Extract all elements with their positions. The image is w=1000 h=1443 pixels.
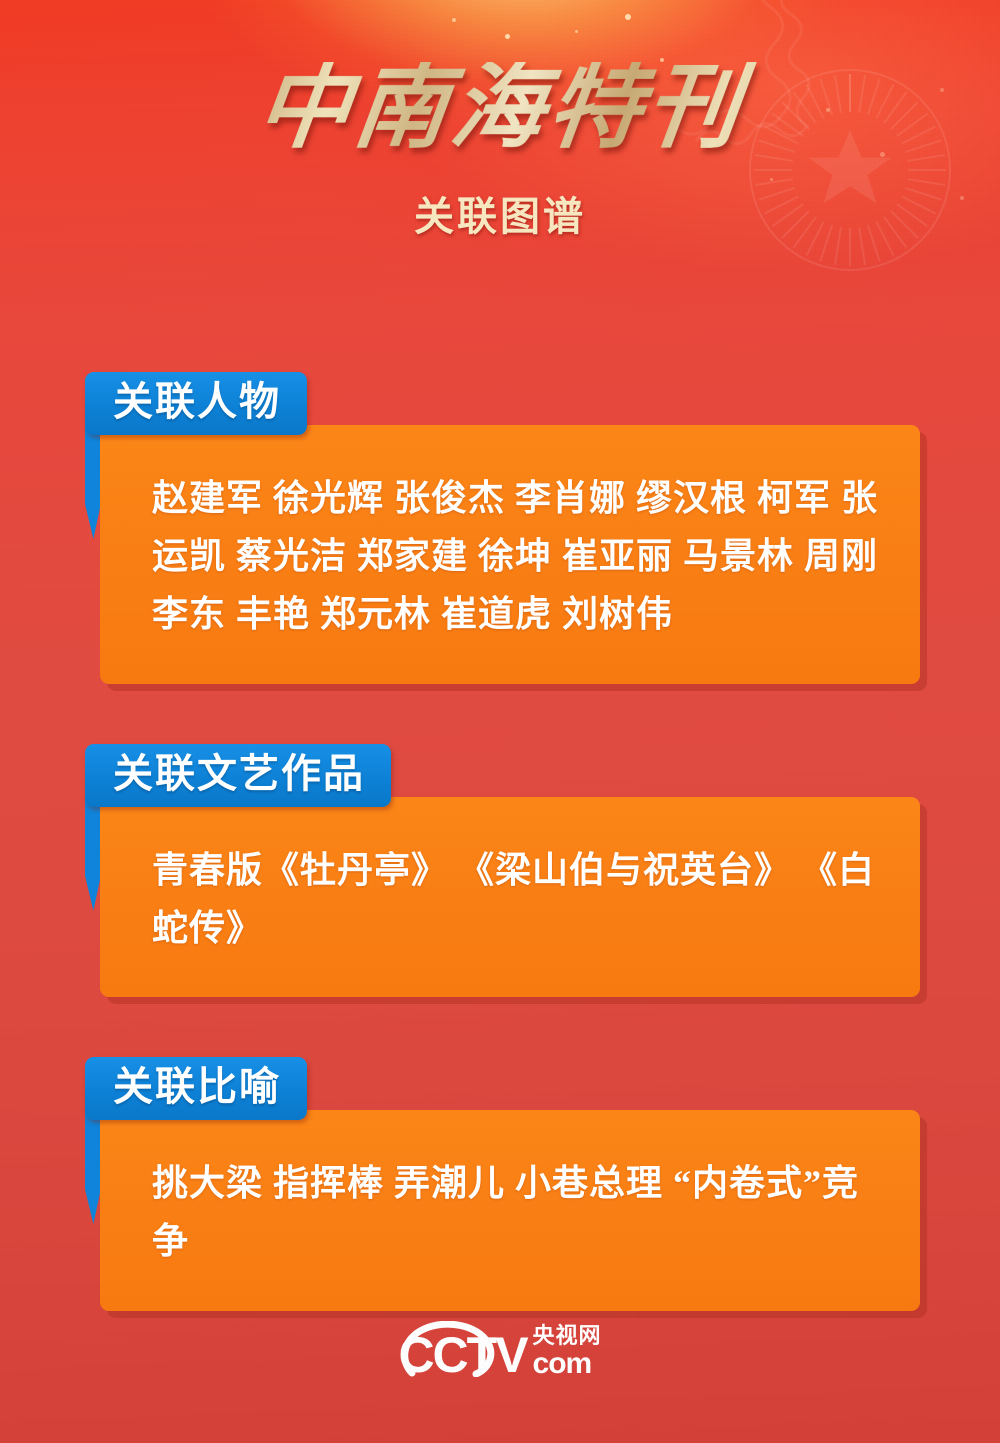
section-card-related-people: 赵建军 徐光辉 张俊杰 李肖娜 缪汉根 柯军 张运凯 蔡光洁 郑家建 徐坤 崔亚… xyxy=(100,425,920,684)
section-tab-label: 关联比喻 xyxy=(113,1065,281,1110)
poster-header: 中南海特刊 关联图谱 xyxy=(0,0,1000,250)
cctv-logo-com: com xyxy=(533,1349,592,1379)
poster-root: 中南海特刊 关联图谱 关联人物 赵建军 徐光辉 张俊杰 李肖娜 缪汉根 柯军 张… xyxy=(0,0,1000,1443)
section-card-text: 青春版《牡丹亭》 《梁山伯与祝英台》 《白蛇传》 xyxy=(152,841,880,958)
page-subtitle: 关联图谱 xyxy=(0,184,1000,242)
section-tab-related-metaphors[interactable]: 关联比喻 xyxy=(85,1057,307,1120)
section-tab-label: 关联文艺作品 xyxy=(113,752,365,797)
section-card-related-artworks: 青春版《牡丹亭》 《梁山伯与祝英台》 《白蛇传》 xyxy=(100,797,920,998)
cctv-logo-right-block: 央视网 com xyxy=(533,1325,602,1379)
section-card-related-metaphors: 挑大梁 指挥棒 弄潮儿 小巷总理 “内卷式”竞争 xyxy=(100,1110,920,1311)
section-related-people: 关联人物 赵建军 徐光辉 张俊杰 李肖娜 缪汉根 柯军 张运凯 蔡光洁 郑家建 … xyxy=(0,372,1000,684)
section-tab-related-artworks[interactable]: 关联文艺作品 xyxy=(85,744,391,807)
section-card-text: 赵建军 徐光辉 张俊杰 李肖娜 缪汉根 柯军 张运凯 蔡光洁 郑家建 徐坤 崔亚… xyxy=(152,469,880,644)
sections-container: 关联人物 赵建军 徐光辉 张俊杰 李肖娜 缪汉根 柯军 张运凯 蔡光洁 郑家建 … xyxy=(0,372,1000,1371)
section-card-text: 挑大梁 指挥棒 弄潮儿 小巷总理 “内卷式”竞争 xyxy=(152,1154,880,1271)
section-tab-related-people[interactable]: 关联人物 xyxy=(85,372,307,435)
cctv-logo-swoosh-icon xyxy=(396,1321,516,1377)
cctv-logo-chinese-name: 央视网 xyxy=(533,1325,602,1347)
section-tab-label: 关联人物 xyxy=(113,380,281,425)
section-related-metaphors: 关联比喻 挑大梁 指挥棒 弄潮儿 小巷总理 “内卷式”竞争 xyxy=(0,1057,1000,1310)
poster-footer: CCTV 央视网 com xyxy=(0,1325,1000,1379)
page-title: 中南海特刊 xyxy=(0,62,1000,155)
section-related-artworks: 关联文艺作品 青春版《牡丹亭》 《梁山伯与祝英台》 《白蛇传》 xyxy=(0,744,1000,997)
